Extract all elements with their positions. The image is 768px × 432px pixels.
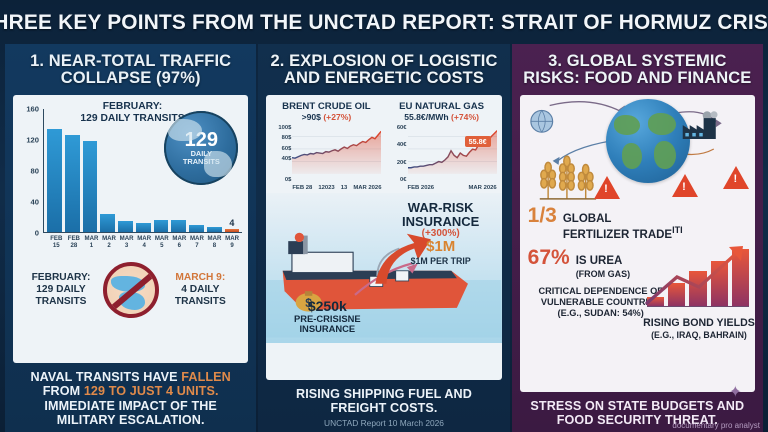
brent-crude-chart: BRENT CRUDE OIL >90$ (+27%) 0$40$60$80$1… [271,101,381,191]
global-risk-illustration [520,95,755,203]
chart1-bar [189,225,204,232]
fertilizer-sup: ITI [672,225,683,235]
chart1-y-tick: 160 [26,104,39,113]
chart-x-tick: 13 [341,185,348,191]
urea-value: 67% [528,247,570,268]
price-charts: BRENT CRUDE OIL >90$ (+27%) 0$40$60$80$1… [266,95,501,193]
compare-right: MARCH 9: 4 DAILY TRANSITS [160,272,240,307]
tanker-illustration: $ WAR-RISK INSURANCE (+300%) $1M $1M PER… [266,193,501,343]
globe-icon [606,99,690,183]
chart1-x-axis: FEB15FEB28MAR1MAR2MAR3MAR4MAR5MAR6MAR7MA… [46,235,242,249]
compare-right-head: MARCH 9: [160,272,240,284]
chart1-x-tick: MAR5 [154,235,169,249]
footer1-c: IMMEDIATE IMPACT OF THE MILITARY ESCALAT… [44,399,217,428]
chart-y-tick: 60$ [282,146,292,152]
eu-gas-chart: EU NATURAL GAS 55.8€/MWh (+74%) 0€20€40€… [387,101,497,191]
warning-icon [594,176,620,199]
chart1-bar [171,220,186,232]
chart1-y-tick: 40 [31,197,39,206]
war-title-1: WAR-RISK [385,201,497,215]
panel2-header: 2. EXPLOSION OF LOGISTIC AND ENERGETIC C… [258,44,509,95]
brent-value: >90$ (+27%) [271,112,381,122]
money-note-2: INSURANCE [280,324,374,335]
bond-bar [689,271,706,306]
footer1-a: NAVAL TRANSITS HAVE [30,370,181,384]
bond-bar [647,297,664,306]
chart1-x-tick: FEB15 [49,235,64,249]
bond-label: RISING BOND YIELDS (E.G., IRAQ, BAHRAIN) [641,317,755,341]
chart1-y-tick: 80 [31,166,39,175]
badge-landmass-icon [168,119,202,141]
report-credit: UNCTAD Report 10 March 2026 [268,416,499,428]
gas-x-axis: FEB 2026MAR 2026 [408,185,497,191]
chart1-x-tick: MAR3 [119,235,134,249]
gas-title: EU NATURAL GAS [387,101,497,112]
panel1-title: 1. NEAR-TOTAL TRAFFIC COLLAPSE (97%) [13,53,248,88]
brent-sparkline [292,124,381,174]
chart-y-tick: 40$ [282,156,292,162]
money-value: $250k [280,298,374,314]
chart1-x-tick: MAR9 [225,235,240,249]
chart-y-tick: 0€ [400,177,406,183]
bond-label-text: RISING BOND YIELDS [643,317,755,329]
gas-price: 55.8€/MWh [404,112,448,122]
chart-x-tick: 12023 [318,185,334,191]
footer1-b: FROM [43,384,84,398]
chart1-x-tick: MAR1 [84,235,99,249]
chart1-bar [207,227,222,232]
gas-y-axis: 0€20€40€60€ [387,124,408,180]
landmass [648,113,676,135]
chart1-bar [65,135,80,232]
gas-plot: 0€20€40€60€ [387,124,497,180]
warning-icon [723,166,749,189]
panel3-statistics: 1/3 GLOBAL FERTILIZER TRADEITI 67% IS UR… [520,203,755,341]
daily-transits-bar-chart: FEBRUARY: 129 DAILY TRANSITS 04080120160… [13,95,248,259]
chart1-x-tick: FEB28 [67,235,82,249]
landmass [654,141,676,169]
chart-x-tick: FEB 2026 [408,185,435,191]
before-after-compare: FEBRUARY: 129 DAILY TRANSITS MARCH 9: 4 … [13,259,248,321]
fertilizer-value: 1/3 [528,205,557,226]
gas-change: (+74%) [451,112,479,122]
page-title: THREE KEY POINTS FROM THE UNCTAD REPORT:… [0,10,768,35]
panel3-card: 1/3 GLOBAL FERTILIZER TRADEITI 67% IS UR… [520,95,755,392]
panel2-footer-text: RISING SHIPPING FUEL AND FREIGHT COSTS. [268,387,499,416]
urea-label: IS UREA (FROM GAS) [576,255,631,280]
header-bar: THREE KEY POINTS FROM THE UNCTAD REPORT:… [0,0,768,44]
chart-y-tick: 0$ [285,177,291,183]
chart1-bar-value: 4 [229,218,234,228]
chart1-bar [154,220,169,232]
war-note: $1M PER TRIP [385,256,497,266]
panel-traffic-collapse: 1. NEAR-TOTAL TRAFFIC COLLAPSE (97%) FEB… [5,44,256,432]
footer1-hl1: FALLEN [181,370,231,384]
panel3-header: 3. GLOBAL SYSTEMIC RISKS: FOOD AND FINAN… [512,44,763,95]
chart1-bar: 4 [225,229,240,232]
footer1-hl2: 129 TO JUST 4 UNITS. [84,384,219,398]
chart1-x-tick: MAR7 [190,235,205,249]
bond-yields-chart: RISING BOND YIELDS (E.G., IRAQ, BAHRAIN) [643,243,751,319]
brent-y-axis: 0$40$60$80$100$ [271,124,292,180]
gas-sparkline [408,124,497,174]
gas-price-tag: 55.8€ [465,136,491,147]
daily-transits-badge: 129 DAILY TRANSITS [164,111,238,185]
chart1-y-axis: 04080120160 [17,109,41,233]
chart1-x-tick: MAR2 [102,235,117,249]
bond-sub: (E.G., IRAQ, BAHRAIN) [651,330,747,340]
compare-left-body: 129 DAILY TRANSITS [36,284,87,307]
panel-systemic-risks: 3. GLOBAL SYSTEMIC RISKS: FOOD AND FINAN… [512,44,763,432]
compare-left: FEBRUARY: 129 DAILY TRANSITS [21,272,101,307]
chart1-x-tick: MAR4 [137,235,152,249]
chart-y-tick: 60€ [397,125,407,131]
fertilizer-label: GLOBAL FERTILIZER TRADEITI [563,213,683,241]
bond-bar [711,261,728,306]
chart-x-tick: MAR 2026 [469,185,497,191]
chart-x-tick: FEB 28 [292,185,312,191]
urea-label-text: IS UREA [576,255,623,267]
fertilizer-label-2: FERTILIZER TRADE [563,228,672,240]
urea-sub: (FROM GAS) [576,269,631,279]
dependence-note-3: (E.G., SUDAN: 54%) [558,308,644,318]
chart1-bar [47,129,62,232]
chart1-bar [83,141,98,232]
chart1-x-tick: MAR6 [172,235,187,249]
pre-crisis-insurance-callout: $250k PRE-CRISISNE INSURANCE [280,298,374,335]
chart-y-tick: 20€ [397,160,407,166]
compare-left-head: FEBRUARY: [21,272,101,284]
chart1-bar [136,223,151,232]
compare-right-body: 4 DAILY TRANSITS [175,284,226,307]
sparkle-icon: ✦ [729,382,742,402]
war-title-2: INSURANCE [385,215,497,229]
brent-title: BRENT CRUDE OIL [271,101,381,112]
chart-y-tick: 80$ [282,135,292,141]
landmass [622,143,642,169]
panel2-card: BRENT CRUDE OIL >90$ (+27%) 0$40$60$80$1… [266,95,501,380]
brent-change: (+27%) [323,112,351,122]
chart1-y-tick: 120 [26,135,39,144]
bond-bars [647,245,749,307]
panel1-footer-text: NAVAL TRANSITS HAVE FALLEN FROM 129 TO J… [15,370,246,428]
panel1-card: FEBRUARY: 129 DAILY TRANSITS 04080120160… [13,95,248,363]
chart1-y-tick: 0 [35,228,39,237]
no-transit-icon [103,262,159,318]
panel2-footer: RISING SHIPPING FUEL AND FREIGHT COSTS. … [258,380,509,432]
chart-y-tick: 100$ [278,125,291,131]
bond-bar [668,283,685,306]
panel2-title: 2. EXPLOSION OF LOGISTIC AND ENERGETIC C… [266,53,501,88]
gas-value: 55.8€/MWh (+74%) [387,112,497,122]
brent-plot: 0$40$60$80$100$ [271,124,381,180]
panel1-header: 1. NEAR-TOTAL TRAFFIC COLLAPSE (97%) [5,44,256,95]
chart1-bar [100,214,115,232]
brent-x-axis: FEB 281202313MAR 2026 [292,185,381,191]
bond-bar [732,249,749,306]
panel1-footer: NAVAL TRANSITS HAVE FALLEN FROM 129 TO J… [5,363,256,432]
fertilizer-stat: 1/3 GLOBAL FERTILIZER TRADEITI [528,205,747,241]
chart-y-tick: 40€ [397,142,407,148]
wheat-icons [536,153,602,201]
panel-container: 1. NEAR-TOTAL TRAFFIC COLLAPSE (97%) FEB… [0,44,768,432]
fertilizer-label-1: GLOBAL [563,213,612,225]
chart1-x-tick: MAR8 [207,235,222,249]
panel-logistic-costs: 2. EXPLOSION OF LOGISTIC AND ENERGETIC C… [258,44,509,432]
brent-price: >90$ [302,112,321,122]
chart1-bar [118,221,133,232]
landmass [614,115,640,135]
badge-landmass-icon [204,151,232,177]
chart-x-tick: MAR 2026 [353,185,381,191]
war-value: $1M [385,239,497,256]
analyst-credit: documentary pro analyst [672,421,760,430]
war-risk-insurance-callout: WAR-RISK INSURANCE (+300%) $1M $1M PER T… [385,201,497,266]
infographic-root: THREE KEY POINTS FROM THE UNCTAD REPORT:… [0,0,768,432]
factory-icon [681,111,721,141]
warning-icon [672,174,698,197]
panel3-title: 3. GLOBAL SYSTEMIC RISKS: FOOD AND FINAN… [520,53,755,88]
